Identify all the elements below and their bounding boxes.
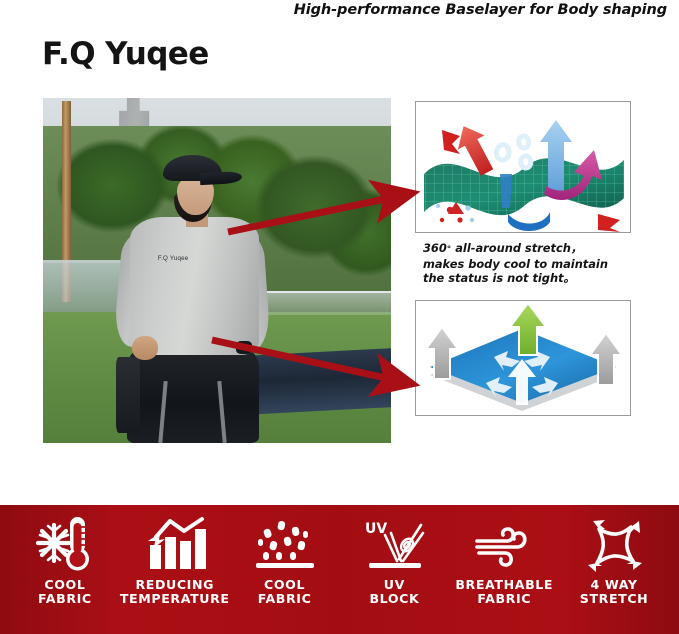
stretch-caption: 360° all-around stretch， makes body cool… xyxy=(423,241,673,286)
stretch-diagram-graphic xyxy=(416,102,630,232)
shirt-chest-logo: F.Q Yuqee xyxy=(158,255,189,262)
caption-line2: makes body cool to maintain xyxy=(423,257,608,271)
feature-4-way-stretch: 4 WAY STRETCH xyxy=(559,513,669,607)
caption-line3: the status is not tight。 xyxy=(423,271,575,285)
snowflake-thermometer-icon xyxy=(34,513,96,575)
page-tagline: High-performance Baselayer for Body shap… xyxy=(0,2,667,18)
model-baselayer-shirt xyxy=(130,217,259,355)
feature-label: COOL FABRIC xyxy=(38,578,92,607)
stretch-diagram-panel xyxy=(415,101,631,233)
feature-label: COOL FABRIC xyxy=(258,578,312,607)
water-droplets-icon xyxy=(254,513,316,575)
caption-360: 360 xyxy=(423,241,447,255)
bar-chart-down-arrow-icon xyxy=(144,513,206,575)
feature-label: 4 WAY STRETCH xyxy=(580,578,649,607)
breathable-diagram-graphic xyxy=(416,301,630,415)
model-watch xyxy=(236,341,252,353)
model-hand xyxy=(132,336,158,360)
feature-cool-fabric-1: COOL FABRIC xyxy=(10,513,120,607)
red-arrow-lower-right xyxy=(598,214,620,232)
feature-cool-fabric-2: COOL FABRIC xyxy=(230,513,340,607)
model-cap-brim xyxy=(199,171,241,185)
model-gym-bag xyxy=(116,357,140,433)
four-way-stretch-icon xyxy=(583,513,645,575)
feature-label: REDUCING TEMPERATURE xyxy=(120,578,230,607)
wind-breathable-icon xyxy=(473,513,535,575)
caption-line1-rest: all-around stretch， xyxy=(451,241,582,255)
model-leggings xyxy=(127,346,259,443)
breathable-diagram-panel xyxy=(415,300,631,416)
photo-model: F.Q Yuqee xyxy=(43,98,391,443)
brand-title: F.Q Yuqee xyxy=(42,36,209,72)
water-droplets xyxy=(496,136,530,168)
feature-breathable-fabric: BREATHABLE FABRIC xyxy=(449,513,559,607)
feature-label: BREATHABLE FABRIC xyxy=(455,578,553,607)
feature-label: UV BLOCK xyxy=(369,578,419,607)
product-photo: F.Q Yuqee xyxy=(43,98,391,443)
feature-banner: COOL FABRIC REDUCING TEMPERATURE xyxy=(0,505,679,634)
uv-block-icon: UV xyxy=(363,513,425,575)
feature-uv-block: UV UV BLOCK xyxy=(339,513,449,607)
feature-reducing-temperature: REDUCING TEMPERATURE xyxy=(120,513,230,607)
particles xyxy=(440,202,464,223)
